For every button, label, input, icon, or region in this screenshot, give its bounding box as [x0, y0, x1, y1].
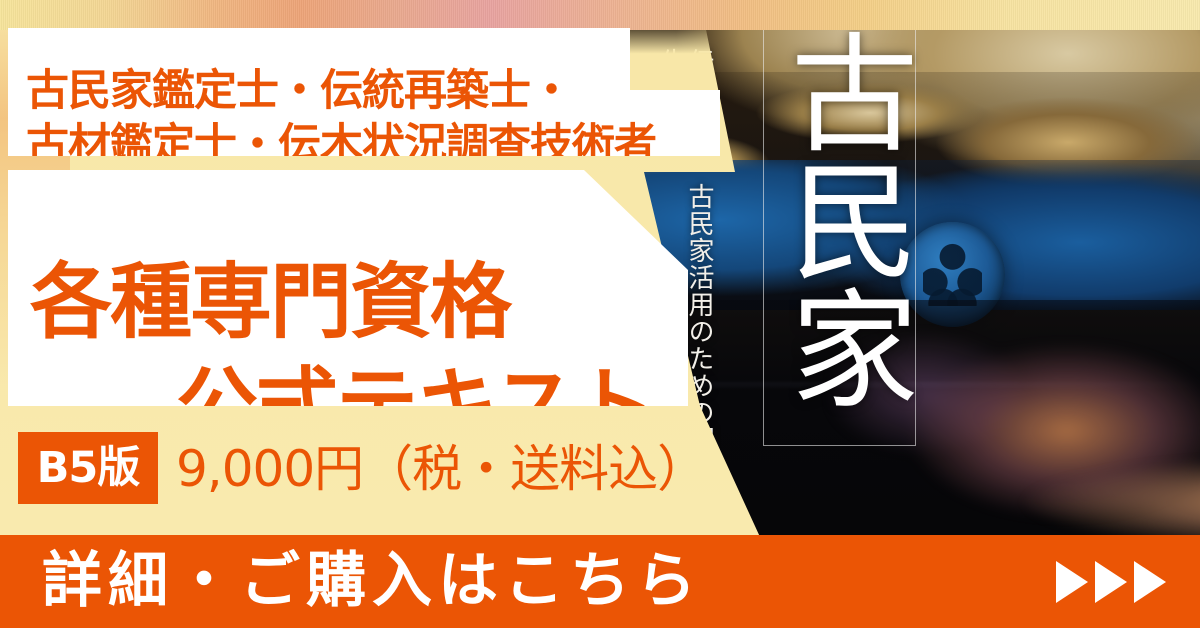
top-gradient-band [0, 0, 1200, 30]
top-band-texture [0, 0, 1200, 30]
price-text: 9,000円（税・送料込） [176, 437, 706, 502]
promo-banner: 古民家 伝統構法 古民家活用のための調査と再生の 古民家鑑定士・伝統再築士・ 古… [0, 0, 1200, 628]
cta-bar[interactable]: 詳細・ご購入はこちら [0, 535, 1200, 628]
qualifications-line-1: 古民家鑑定士・伝統再築士・ [26, 70, 572, 113]
triangle-right-icon [1134, 561, 1166, 603]
book-title: 古民家 [768, 4, 910, 434]
qualifications-panel: 古民家鑑定士・伝統再築士・ 古材鑑定士・伝木状況調査技術者 [8, 28, 720, 156]
triangle-right-icon [1095, 561, 1127, 603]
cta-arrows [1056, 561, 1166, 603]
cta-label: 詳細・ご購入はこちら [42, 550, 702, 610]
cover-bottom-glow [1020, 455, 1200, 537]
format-badge-label: B5版 [37, 447, 140, 490]
format-badge: B5版 [18, 432, 158, 504]
triangle-right-icon [1056, 561, 1088, 603]
main-headline-panel: 各種専門資格 公式テキスト [8, 170, 688, 406]
main-headline-line-1: 各種専門資格 [30, 262, 510, 344]
